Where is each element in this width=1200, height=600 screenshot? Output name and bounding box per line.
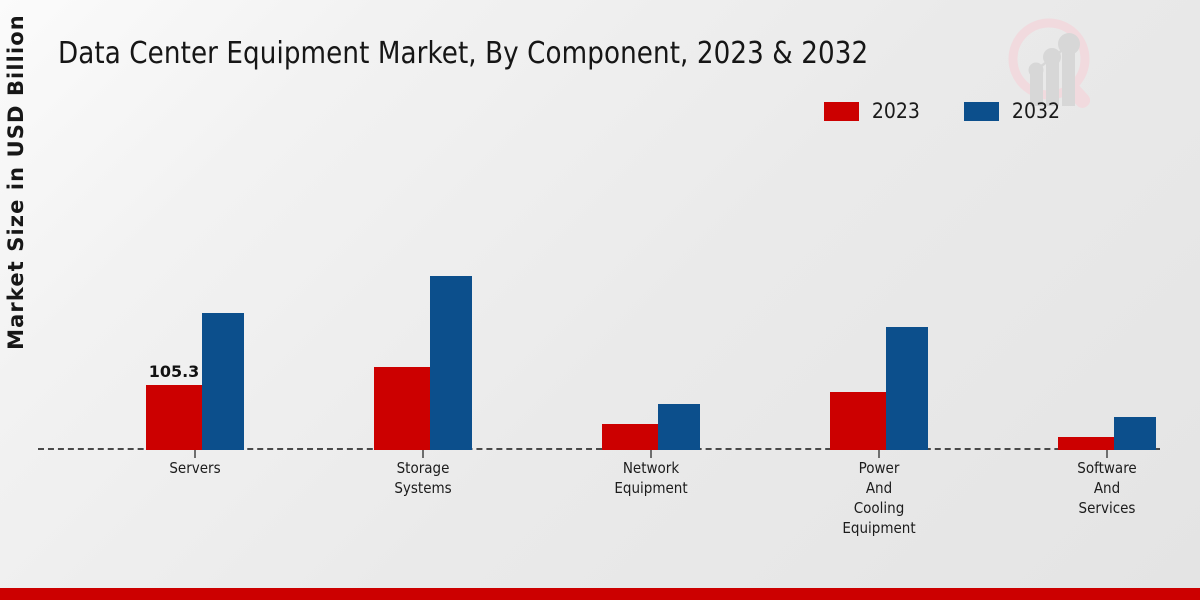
bar-value-label: 105.3: [149, 362, 200, 381]
x-axis-tick: [1106, 450, 1108, 458]
bar-pair: [338, 140, 508, 450]
legend-label-2023: 2023: [872, 101, 920, 122]
bar-2023[interactable]: [830, 392, 886, 450]
bar-group: Network Equipment: [566, 140, 736, 450]
legend-swatch-blue-icon: [964, 102, 999, 121]
bar-pair: 105.3: [110, 140, 280, 450]
legend-item-2032[interactable]: 2032: [964, 101, 1060, 122]
bar-2032[interactable]: [430, 276, 472, 450]
x-axis-tick: [422, 450, 424, 458]
chart-legend: 2023 2032: [824, 101, 1060, 122]
bar-2023[interactable]: 105.3: [146, 385, 202, 450]
bar-group: Software And Services: [1022, 140, 1192, 450]
legend-label-2032: 2032: [1012, 101, 1060, 122]
legend-swatch-red-icon: [824, 102, 859, 121]
page-title: Data Center Equipment Market, By Compone…: [58, 36, 868, 71]
bar-pair: [566, 140, 736, 450]
x-axis-category-label: Power And Cooling Equipment: [842, 458, 915, 538]
plot-area: 105.3ServersStorage SystemsNetwork Equip…: [38, 140, 1160, 450]
bar-2032[interactable]: [1114, 417, 1156, 450]
bar-2032[interactable]: [658, 404, 700, 450]
x-axis-category-label: Network Equipment: [614, 458, 687, 498]
footer-accent-bar: [0, 588, 1200, 600]
bar-pair: [794, 140, 964, 450]
bar-2023[interactable]: [602, 424, 658, 450]
bar-group: Power And Cooling Equipment: [794, 140, 964, 450]
bar-2023[interactable]: [374, 367, 430, 450]
x-axis-category-label: Storage Systems: [394, 458, 451, 498]
bar-2023[interactable]: [1058, 437, 1114, 450]
bar-2032[interactable]: [886, 327, 928, 450]
legend-item-2023[interactable]: 2023: [824, 101, 920, 122]
x-axis-tick: [650, 450, 652, 458]
x-axis-category-label: Servers: [169, 458, 220, 478]
chart-page: Data Center Equipment Market, By Compone…: [0, 0, 1200, 600]
bar-pair: [1022, 140, 1192, 450]
x-axis-tick: [878, 450, 880, 458]
bar-group: 105.3Servers: [110, 140, 280, 450]
bar-2032[interactable]: [202, 313, 244, 450]
y-axis-title: Market Size in USD Billion: [4, 12, 28, 352]
x-axis-tick: [194, 450, 196, 458]
bar-group: Storage Systems: [338, 140, 508, 450]
x-axis-category-label: Software And Services: [1077, 458, 1136, 518]
